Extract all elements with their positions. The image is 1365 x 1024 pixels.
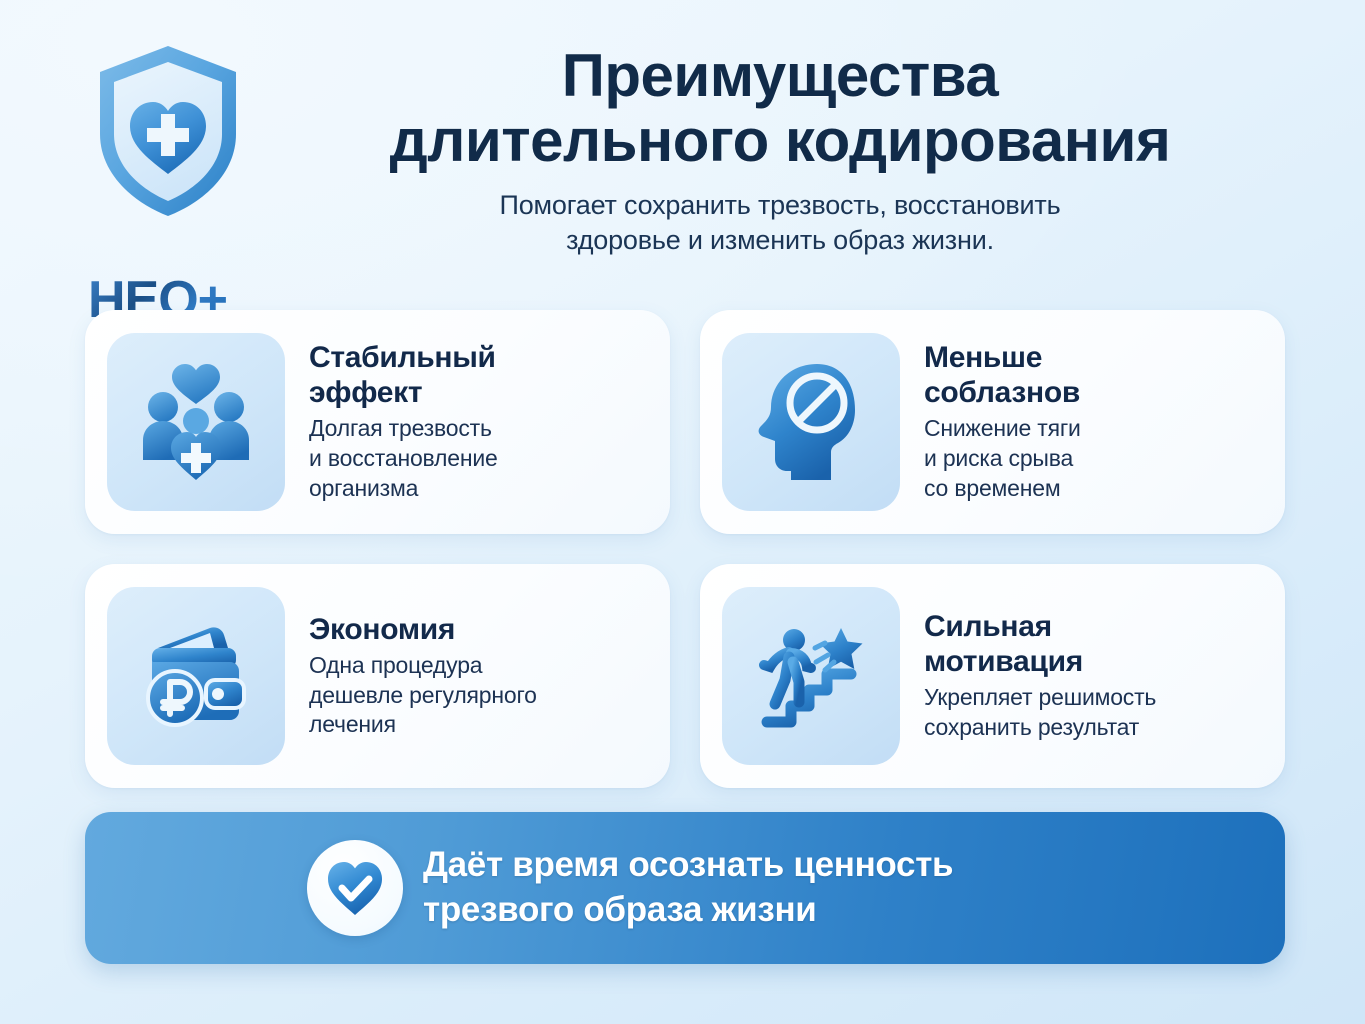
card-description: Одна процедура дешевле регулярного лечен… <box>309 651 648 741</box>
card-desc-line-1: Снижение тяги <box>924 414 1263 444</box>
card-desc-line-2: и риска срыва <box>924 444 1263 474</box>
card-title-line-2: эффект <box>309 375 648 410</box>
poster-title-block: Преимущества длительного кодирования Пом… <box>280 44 1280 258</box>
card-title-line-2: соблазнов <box>924 375 1263 410</box>
card-title: Меньше соблазнов <box>924 340 1263 410</box>
brand-logo: HEO+ <box>78 42 308 292</box>
heart-check-icon <box>307 840 403 936</box>
page-title: Преимущества длительного кодирования <box>280 44 1280 174</box>
card-title-line-1: Экономия <box>309 612 648 647</box>
wallet-ruble-icon <box>107 587 285 765</box>
card-desc-line-1: Долгая трезвость <box>309 414 648 444</box>
person-stairs-star-icon <box>722 587 900 765</box>
benefit-card-fewer-temptations[interactable]: Меньше соблазнов Снижение тяги и риска с… <box>700 310 1285 534</box>
infographic-poster: HEO+ Преимущества длительного кодировани… <box>0 0 1365 1024</box>
card-desc-line-3: организма <box>309 474 648 504</box>
card-text: Экономия Одна процедура дешевле регулярн… <box>285 612 652 741</box>
card-desc-line-1: Одна процедура <box>309 651 648 681</box>
title-line-2: длительного кодирования <box>280 109 1280 174</box>
card-desc-line-2: и восстановление <box>309 444 648 474</box>
card-title-line-1: Стабильный <box>309 340 648 375</box>
banner-text: Даёт время осознать ценность трезвого об… <box>423 843 953 933</box>
page-subtitle: Помогает сохранить трезвость, восстанови… <box>280 188 1280 258</box>
card-desc-line-3: со временем <box>924 474 1263 504</box>
card-title-line-2: мотивация <box>924 644 1263 679</box>
bottom-banner[interactable]: Даёт время осознать ценность трезвого об… <box>85 812 1285 964</box>
card-title-line-1: Сильная <box>924 609 1263 644</box>
banner-text-line-2: трезвого образа жизни <box>423 888 953 933</box>
card-title: Сильная мотивация <box>924 609 1263 679</box>
shield-heart-plus-icon <box>92 42 244 220</box>
card-title-line-1: Меньше <box>924 340 1263 375</box>
subtitle-line-1: Помогает сохранить трезвость, восстанови… <box>280 188 1280 223</box>
card-description: Долгая трезвость и восстановление органи… <box>309 414 648 504</box>
card-title: Стабильный эффект <box>309 340 648 410</box>
card-title: Экономия <box>309 612 648 647</box>
card-desc-line-2: сохранить результат <box>924 713 1263 743</box>
benefit-card-grid: Стабильный эффект Долгая трезвость и вос… <box>85 310 1285 788</box>
card-text: Сильная мотивация Укрепляет решимость со… <box>900 609 1267 743</box>
title-line-1: Преимущества <box>280 44 1280 109</box>
head-no-entry-icon <box>722 333 900 511</box>
subtitle-line-2: здоровье и изменить образ жизни. <box>280 223 1280 258</box>
card-text: Стабильный эффект Долгая трезвость и вос… <box>285 340 652 504</box>
card-description: Укрепляет решимость сохранить результат <box>924 683 1263 743</box>
benefit-card-motivation[interactable]: Сильная мотивация Укрепляет решимость со… <box>700 564 1285 788</box>
benefit-card-savings[interactable]: Экономия Одна процедура дешевле регулярн… <box>85 564 670 788</box>
card-description: Снижение тяги и риска срыва со временем <box>924 414 1263 504</box>
card-text: Меньше соблазнов Снижение тяги и риска с… <box>900 340 1267 504</box>
family-heart-plus-icon <box>107 333 285 511</box>
banner-text-line-1: Даёт время осознать ценность <box>423 843 953 888</box>
card-desc-line-1: Укрепляет решимость <box>924 683 1263 713</box>
card-desc-line-3: лечения <box>309 710 648 740</box>
poster-header: HEO+ Преимущества длительного кодировани… <box>0 0 1365 300</box>
benefit-card-stable-effect[interactable]: Стабильный эффект Долгая трезвость и вос… <box>85 310 670 534</box>
card-desc-line-2: дешевле регулярного <box>309 681 648 711</box>
